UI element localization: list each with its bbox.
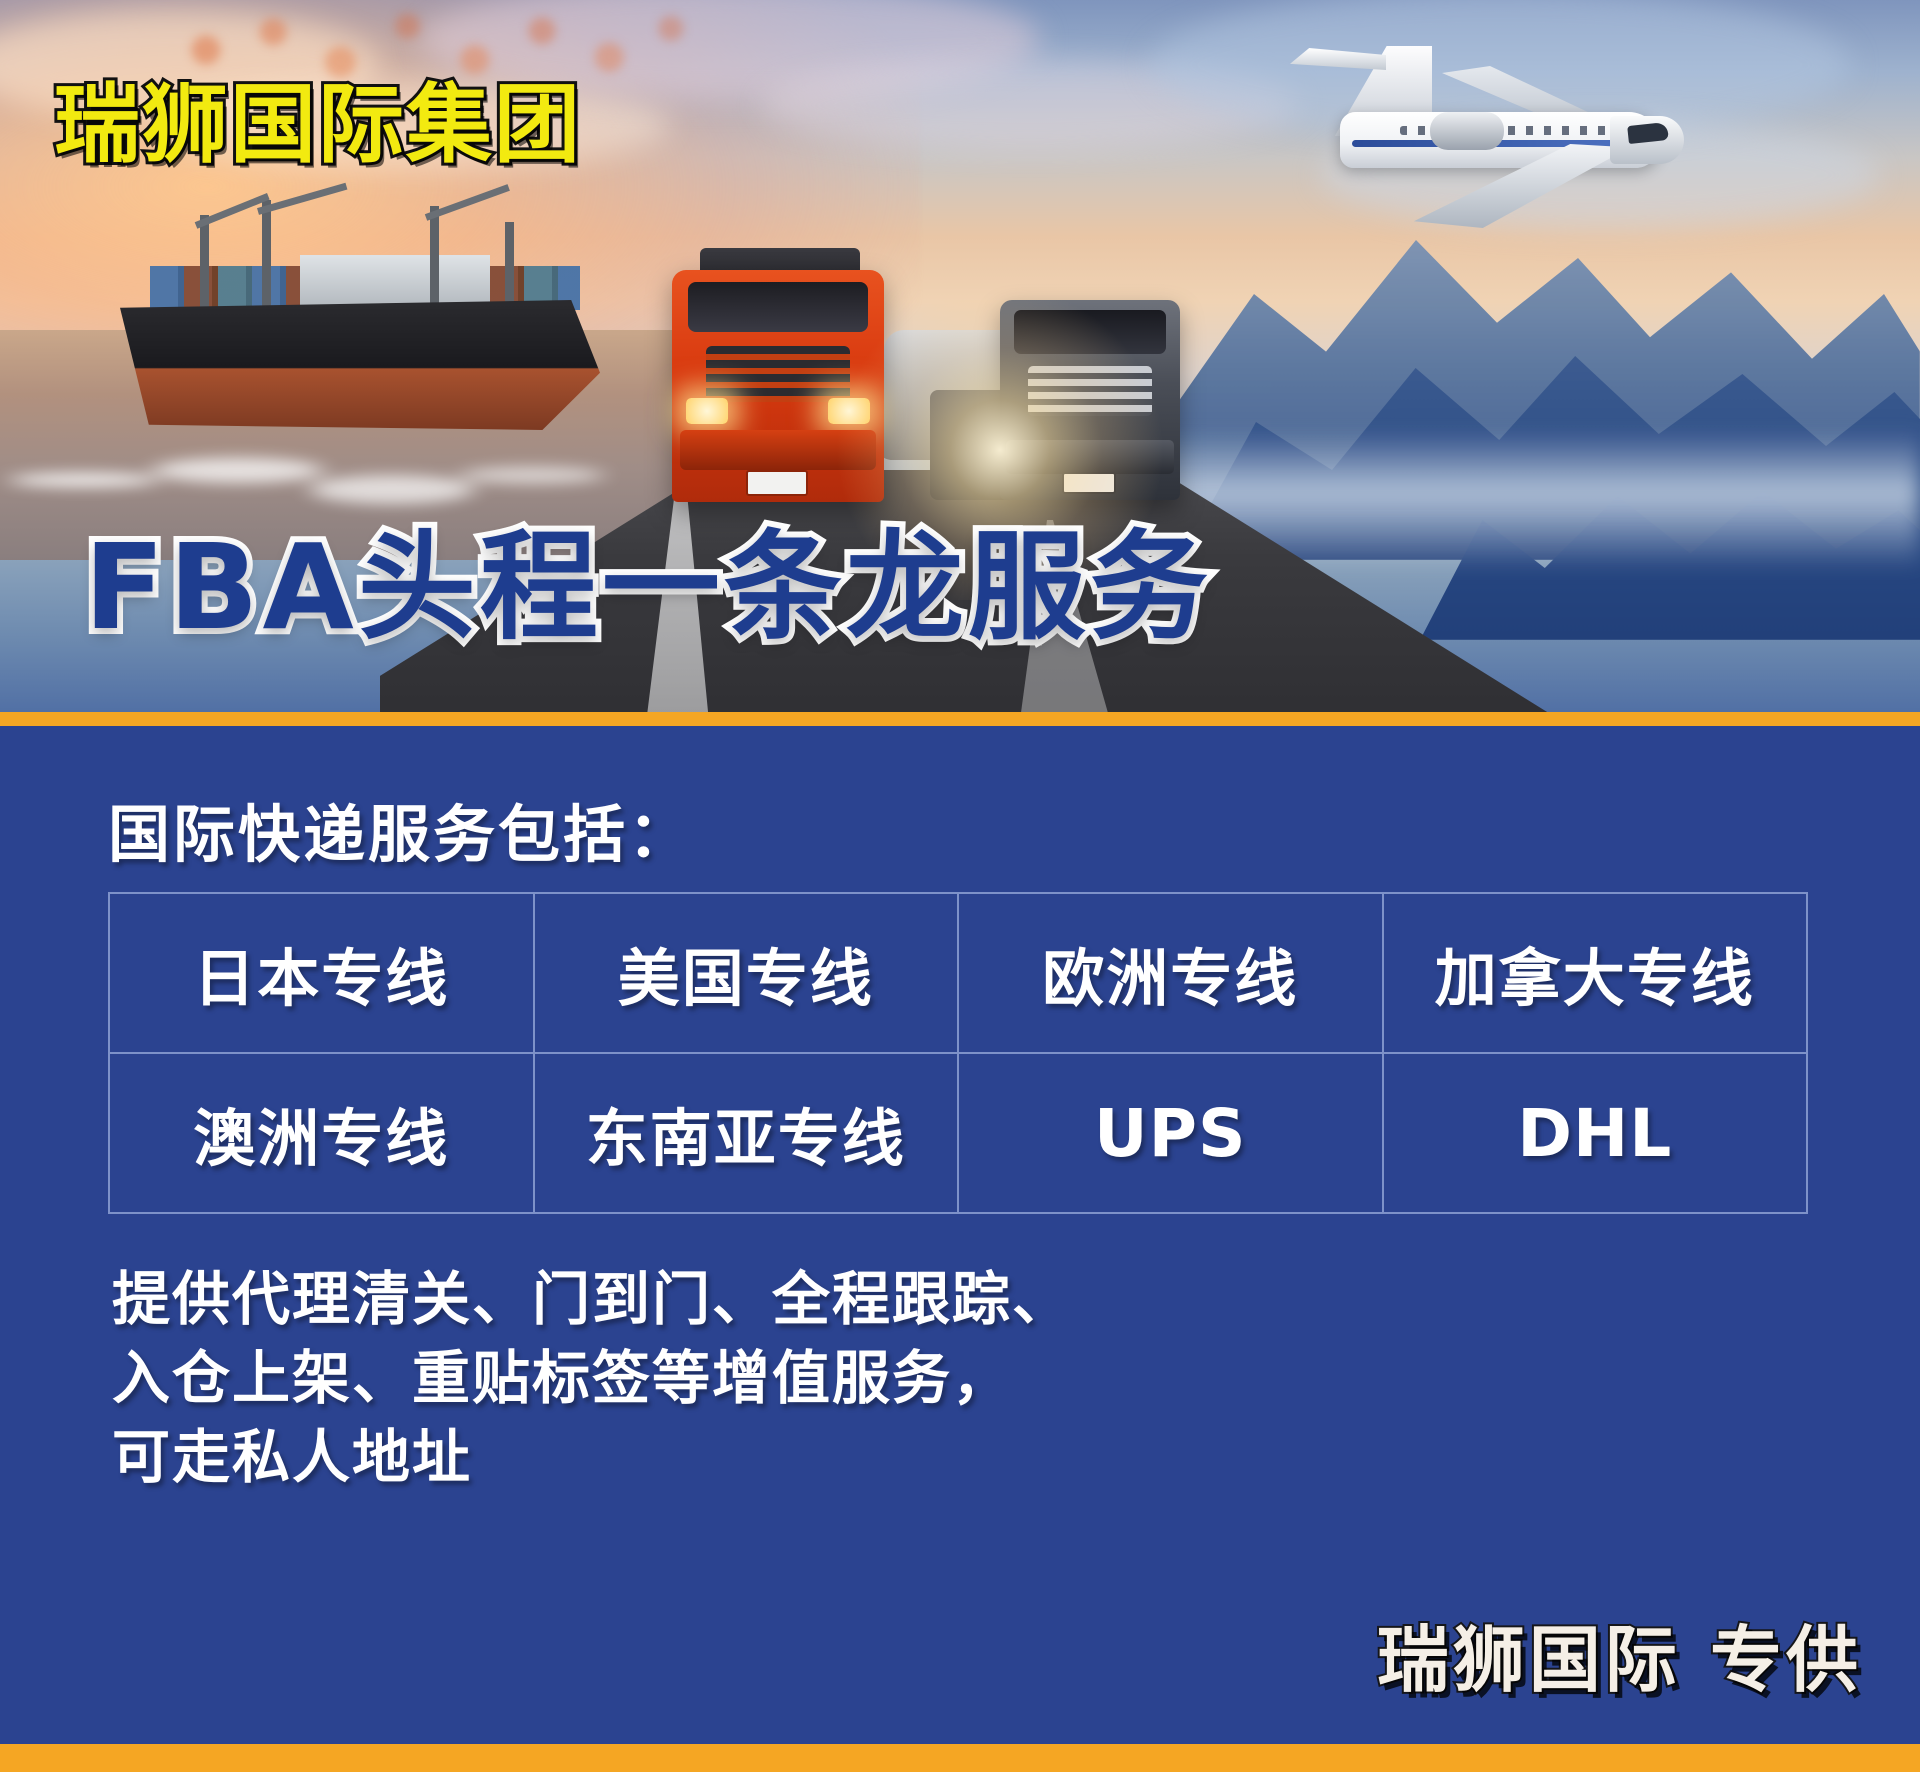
table-row: 日本专线 美国专线 欧洲专线 加拿大专线 (109, 893, 1807, 1053)
services-panel: 国际快递服务包括： 日本专线 美国专线 欧洲专线 加拿大专线 澳洲专线 东南亚专… (0, 726, 1920, 1744)
hero-banner: 瑞狮国际集团 FBA头程一条龙服务 (0, 0, 1920, 718)
service-cell-canada[interactable]: 加拿大专线 (1383, 893, 1808, 1053)
service-cell-australia[interactable]: 澳洲专线 (109, 1053, 534, 1213)
service-cell-ups[interactable]: UPS (958, 1053, 1383, 1213)
ship-mast (200, 215, 209, 307)
truck-bumper (680, 430, 876, 470)
truck-windshield (688, 282, 868, 332)
bottom-orange-bar (0, 1744, 1920, 1772)
ship-deck (300, 255, 490, 307)
panel-heading: 国际快递服务包括： (108, 784, 693, 874)
plane-engine (1430, 112, 1504, 150)
truck-windshield (1014, 310, 1166, 354)
ship-mast (505, 222, 514, 308)
value-added-services-copy: 提供代理清关、门到门、全程跟踪、 入仓上架、重贴标签等增值服务， 可走私人地址 (112, 1260, 1072, 1497)
ship-hull (120, 300, 600, 430)
license-plate (1062, 472, 1116, 494)
truck-grille (1028, 366, 1152, 416)
footer-brand-text: 瑞狮国际 专供 (1377, 1624, 1862, 1696)
truck-headlight (686, 398, 728, 424)
service-cell-europe[interactable]: 欧洲专线 (958, 893, 1383, 1053)
company-logo-text: 瑞狮国际集团 (54, 82, 582, 168)
truck-bumper (1006, 440, 1174, 474)
truck-grille (706, 346, 850, 402)
table-row: 澳洲专线 东南亚专线 UPS DHL (109, 1053, 1807, 1213)
hero-headline: FBA头程一条龙服务 (84, 528, 1212, 646)
service-cell-japan[interactable]: 日本专线 (109, 893, 534, 1053)
poster-root: 瑞狮国际集团 FBA头程一条龙服务 国际快递服务包括： 日本专线 美国专线 欧洲… (0, 0, 1920, 1772)
ship-mast (430, 206, 439, 306)
service-cell-southeastasia[interactable]: 东南亚专线 (534, 1053, 959, 1213)
service-cell-dhl[interactable]: DHL (1383, 1053, 1808, 1213)
services-table: 日本专线 美国专线 欧洲专线 加拿大专线 澳洲专线 东南亚专线 UPS DHL (108, 892, 1808, 1214)
plane-horizontal-stabilizer (1290, 48, 1386, 70)
dark-truck-icon (1000, 300, 1180, 500)
truck-headlight (828, 398, 870, 424)
airplane-icon (1280, 40, 1700, 240)
copy-line-1: 提供代理清关、门到门、全程跟踪、 (112, 1260, 1072, 1339)
service-cell-usa[interactable]: 美国专线 (534, 893, 959, 1053)
plane-livery-stripe (1352, 140, 1652, 147)
copy-line-3: 可走私人地址 (112, 1418, 1072, 1497)
ship-mast (262, 200, 271, 308)
red-truck-icon (672, 270, 884, 502)
orange-divider-bar (0, 712, 1920, 726)
license-plate (746, 470, 808, 496)
copy-line-2: 入仓上架、重贴标签等增值服务， (112, 1339, 1072, 1418)
